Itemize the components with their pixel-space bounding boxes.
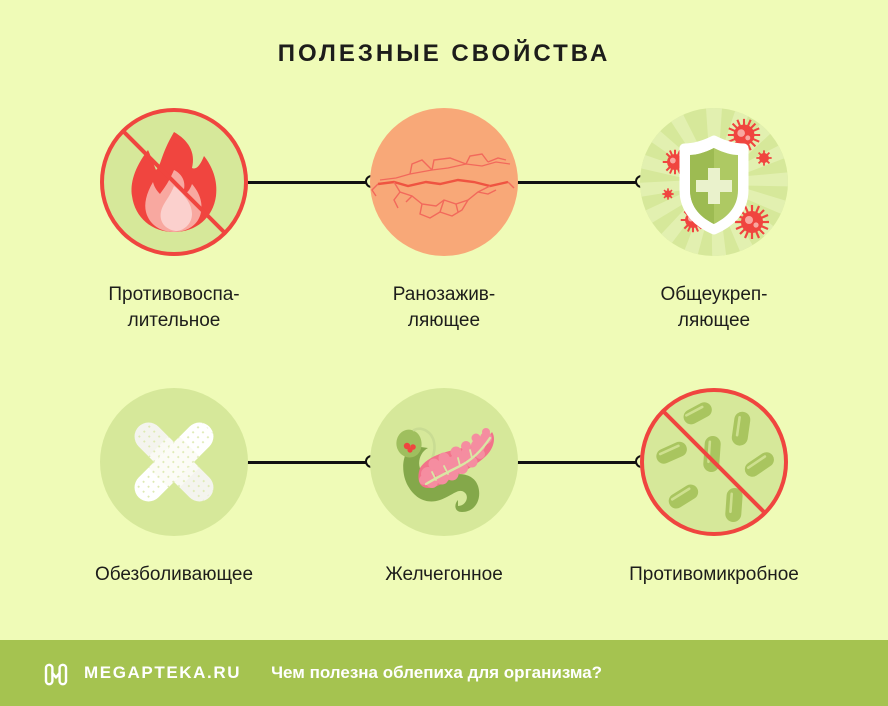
page-title: ПОЛЕЗНЫЕ СВОЙСТВА (0, 40, 888, 68)
infographic-page: ПОЛЕЗНЫЕ СВОЙСТВА (0, 0, 888, 706)
icon-disc (640, 108, 788, 256)
footer-tagline: Чем полезна облепиха для организма? (271, 663, 602, 683)
icon-disc-wrap (370, 108, 518, 256)
benefit-item-immunity[interactable]: Общеукреп- ляющее (566, 108, 862, 334)
benefit-item-wound-healing[interactable]: Ранозажив- ляющее (296, 108, 592, 334)
bacteria-icon (640, 388, 788, 536)
benefit-label: Общеукреп- ляющее (661, 282, 768, 334)
benefit-item-anti-inflammatory[interactable]: Противовоспа- лительное (26, 108, 322, 334)
footer-bar: MEGAPTEKA.RU Чем полезна облепиха для ор… (0, 640, 888, 706)
icon-disc-wrap (100, 388, 248, 536)
benefit-label: Обезболивающее (95, 562, 253, 588)
benefits-row-bottom: Обезболивающее (0, 388, 888, 668)
megapteka-logo-icon[interactable] (42, 659, 70, 687)
icon-disc-wrap (370, 388, 518, 536)
icon-disc (370, 108, 518, 256)
benefit-label: Желчегонное (385, 562, 503, 588)
shield-virus-protection-icon (640, 108, 788, 256)
icon-disc-wrap (640, 388, 788, 536)
icon-disc (100, 388, 248, 536)
shield-icon (684, 140, 744, 230)
icon-disc (640, 388, 788, 536)
icon-disc-wrap (100, 108, 248, 256)
benefit-label: Противомикробное (629, 562, 799, 588)
benefits-row-top: Противовоспа- лительное (0, 108, 888, 388)
icon-disc (370, 388, 518, 536)
crossed-bandages-icon (100, 388, 248, 536)
benefit-item-choleretic[interactable]: Желчегонное (296, 388, 592, 588)
benefit-item-painkilling[interactable]: Обезболивающее (26, 388, 322, 588)
benefit-item-antimicrobial[interactable]: Противомикробное (566, 388, 862, 588)
icon-disc-wrap (640, 108, 788, 256)
brand-name: MEGAPTEKA.RU (84, 663, 241, 683)
benefit-label: Противовоспа- лительное (108, 282, 239, 334)
pancreas-gallbladder-icon (370, 388, 518, 536)
icon-disc (100, 108, 248, 256)
benefits-grid: Противовоспа- лительное (0, 108, 888, 668)
benefit-label: Ранозажив- ляющее (393, 282, 495, 334)
cracked-skin-wound-icon (370, 108, 518, 256)
flame-icon (100, 108, 248, 256)
